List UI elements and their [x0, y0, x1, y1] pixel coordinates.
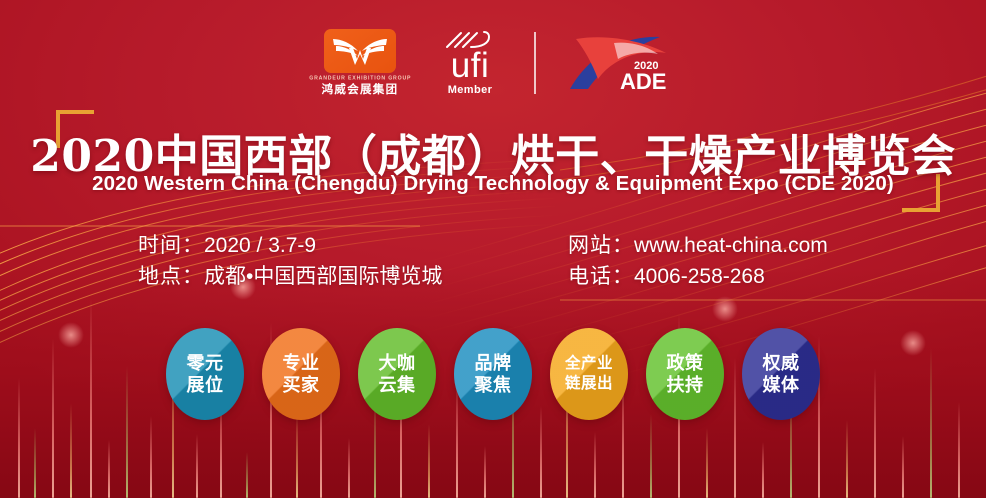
phone-value[interactable]: 4006-258-268: [634, 265, 765, 288]
feature-line-1: 大咖: [379, 352, 416, 374]
feature-line-2: 云集: [379, 374, 416, 396]
grandeur-english-name: GRANDEUR EXHIBITION GROUP: [309, 75, 411, 81]
feature-line-2: 扶持: [667, 374, 704, 396]
grandeur-wings-icon: [324, 29, 396, 73]
ufi-wordmark: ufi: [451, 50, 489, 82]
feature-line-2: 买家: [283, 374, 320, 396]
logo-ufi-member: ufi Member: [432, 30, 508, 96]
phone-label: 电话：: [568, 265, 634, 288]
partner-logos: GRANDEUR EXHIBITION GROUP 鸿威会展集团 ufi Mem…: [0, 22, 986, 104]
feature-line-1: 权威: [763, 352, 800, 374]
feature-circle-4[interactable]: 品牌 聚焦: [454, 328, 532, 420]
sub-title: 2020 Western China (Chengdu) Drying Tech…: [0, 172, 986, 196]
title-block: 2020中国西部（成都）烘干、干燥产业博览会 2020 Western Chin…: [0, 104, 986, 224]
info-row-date: 时间：2020 / 3.7-9: [138, 230, 442, 261]
feature-line-2: 聚焦: [475, 374, 512, 396]
date-value: 2020 / 3.7-9: [204, 234, 316, 257]
website-label: 网站：: [568, 234, 634, 257]
feature-line-2: 链展出: [565, 374, 613, 394]
feature-line-1: 零元: [187, 352, 224, 374]
feature-line-1: 专业: [283, 352, 320, 374]
ufi-member-label: Member: [448, 84, 493, 96]
feature-circle-3[interactable]: 大咖 云集: [358, 328, 436, 420]
feature-line-2: 展位: [187, 374, 224, 396]
feature-circle-5[interactable]: 全产业 链展出: [550, 328, 628, 420]
date-label: 时间：: [138, 234, 204, 257]
event-info-right: 网站：www.heat-china.com 电话：4006-258-268: [568, 230, 828, 292]
feature-circles: 零元 展位 专业 买家 大咖 云集 品牌 聚焦 全产业 链展出 政策 扶持: [0, 325, 986, 423]
feature-line-2: 媒体: [763, 374, 800, 396]
wings-w-icon: [331, 34, 389, 68]
grandeur-chinese-name: 鸿威会展集团: [322, 81, 399, 97]
info-row-website: 网站：www.heat-china.com: [568, 230, 828, 261]
logo-ade-2020: 2020 ADE: [562, 27, 672, 99]
info-row-phone: 电话：4006-258-268: [568, 261, 828, 292]
logo-divider: [534, 32, 536, 94]
feature-circle-1[interactable]: 零元 展位: [166, 328, 244, 420]
feature-circle-6[interactable]: 政策 扶持: [646, 328, 724, 420]
event-info: 时间：2020 / 3.7-9 地点：成都•中国西部国际博览城 网站：www.h…: [0, 228, 986, 300]
svg-text:ADE: ADE: [620, 69, 666, 94]
ade-swoosh-icon: 2020 ADE: [562, 27, 672, 99]
info-row-venue: 地点：成都•中国西部国际博览城: [138, 261, 442, 292]
website-value[interactable]: www.heat-china.com: [634, 234, 828, 257]
feature-line-1: 全产业: [565, 354, 613, 374]
feature-line-1: 品牌: [475, 352, 512, 374]
feature-circle-2[interactable]: 专业 买家: [262, 328, 340, 420]
feature-circle-7[interactable]: 权威 媒体: [742, 328, 820, 420]
feature-line-1: 政策: [667, 352, 704, 374]
event-info-left: 时间：2020 / 3.7-9 地点：成都•中国西部国际博览城: [138, 230, 442, 292]
venue-value: 成都•中国西部国际博览城: [204, 265, 442, 288]
logo-grandeur-exhibition-group: GRANDEUR EXHIBITION GROUP 鸿威会展集团: [314, 29, 406, 97]
expo-promo-banner: GRANDEUR EXHIBITION GROUP 鸿威会展集团 ufi Mem…: [0, 0, 986, 498]
venue-label: 地点：: [138, 265, 204, 288]
